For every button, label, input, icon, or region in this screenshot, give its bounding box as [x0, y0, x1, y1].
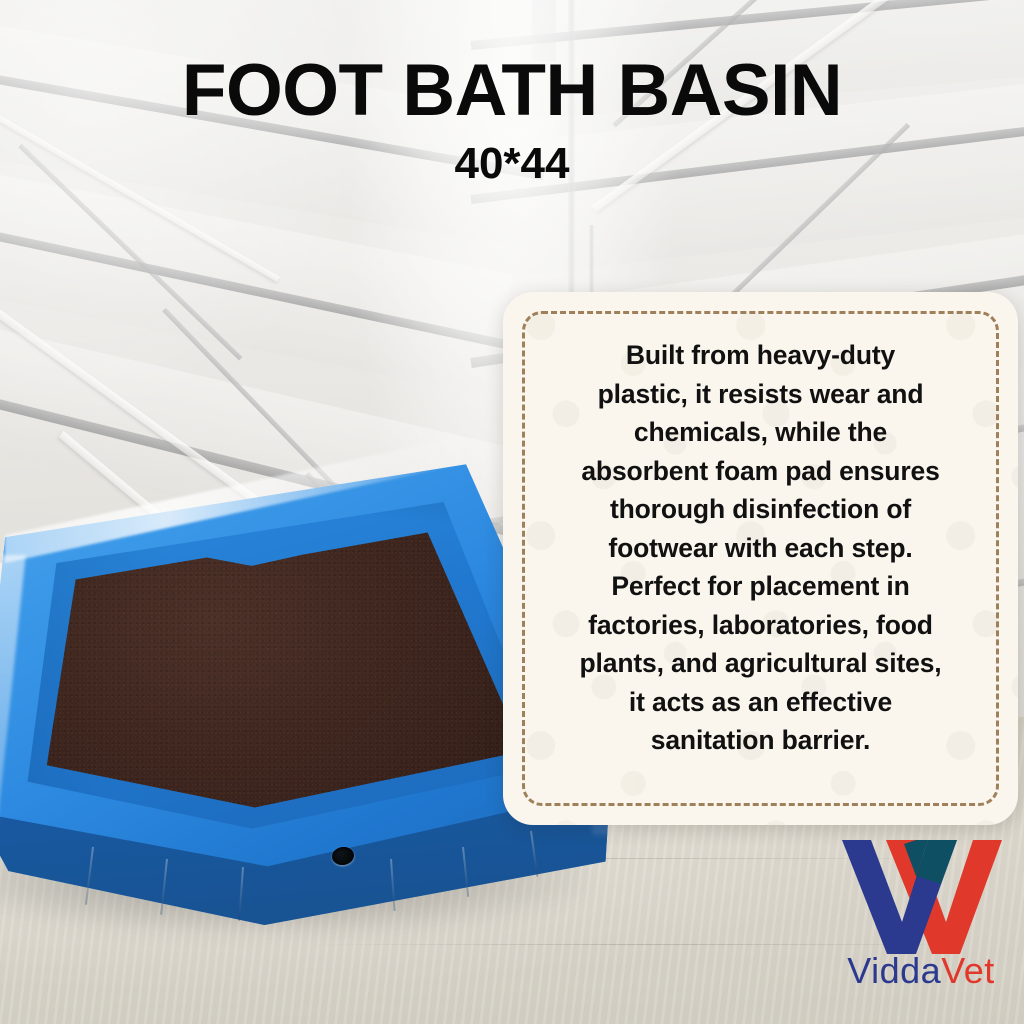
- description-text: Built from heavy-duty plastic, it resist…: [537, 336, 984, 760]
- brand-logo: ViddaVet: [828, 838, 1014, 1014]
- product-poster: FOOT BATH BASIN 40*44 Built from heavy-d…: [0, 0, 1024, 1024]
- double-v-monogram-icon: [842, 838, 1002, 956]
- brand-name-part-one: Vidda: [847, 950, 941, 991]
- description-card: Built from heavy-duty plastic, it resist…: [503, 292, 1018, 825]
- page-subtitle: 40*44: [0, 142, 1024, 186]
- page-title: FOOT BATH BASIN: [0, 56, 1024, 126]
- brand-name-part-two: Vet: [941, 950, 995, 991]
- brand-wordmark: ViddaVet: [828, 950, 1014, 992]
